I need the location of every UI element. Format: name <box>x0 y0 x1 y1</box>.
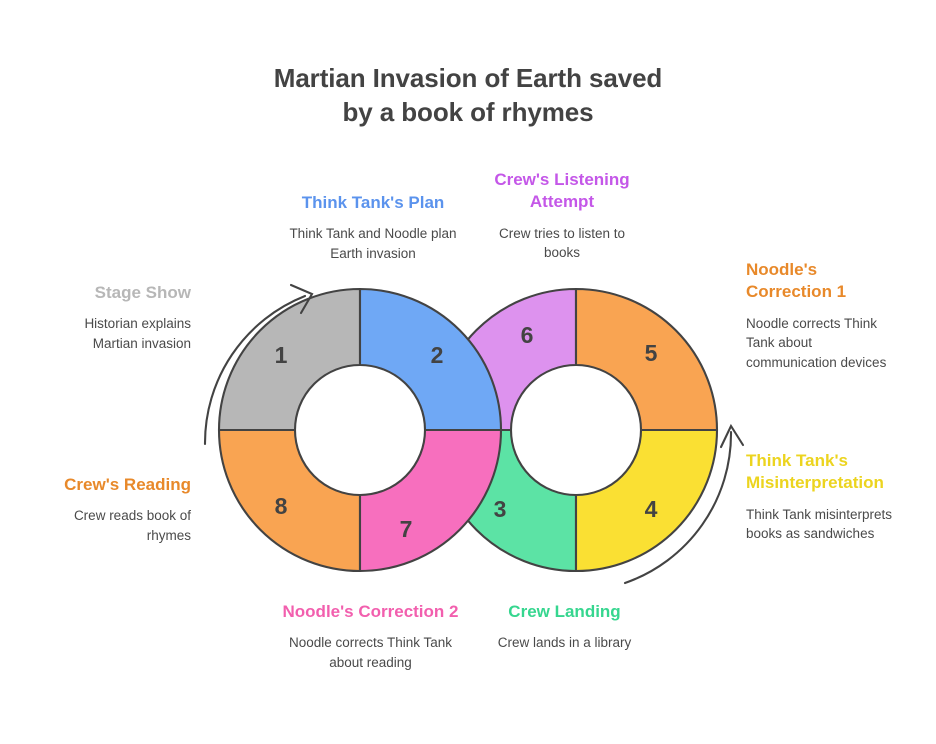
node-noodles-correction-2[interactable]: Noodle's Correction 2 Noodle corrects Th… <box>282 601 459 673</box>
node-noodles-correction-2-desc: Noodle corrects Think Tank about reading <box>282 633 459 672</box>
node-crews-listening-attempt[interactable]: Crew's Listening Attempt Crew tries to l… <box>482 169 642 263</box>
segment-2-number: 2 <box>431 342 444 368</box>
node-crews-reading-desc: Crew reads book of rhymes <box>36 506 191 545</box>
segment-1-arc[interactable] <box>219 289 360 430</box>
node-think-tanks-misinterpretation-title: Think Tank's Misinterpretation <box>746 450 908 495</box>
node-crew-landing[interactable]: Crew Landing Crew lands in a library <box>467 601 662 653</box>
node-think-tanks-misinterpretation[interactable]: Think Tank's Misinterpretation Think Tan… <box>746 450 908 544</box>
node-noodles-correction-1[interactable]: Noodle's Correction 1 Noodle corrects Th… <box>746 259 906 373</box>
node-crew-landing-title: Crew Landing <box>467 601 662 623</box>
segment-6-number: 6 <box>521 322 534 348</box>
node-stage-show-title: Stage Show <box>36 282 191 304</box>
segment-3-number: 3 <box>494 496 507 522</box>
node-noodles-correction-1-title: Noodle's Correction 1 <box>746 259 906 304</box>
left-ring <box>219 289 501 571</box>
segment-7-number: 7 <box>400 516 413 542</box>
node-crews-listening-attempt-desc: Crew tries to listen to books <box>482 224 642 263</box>
node-stage-show-desc: Historian explains Martian invasion <box>36 314 191 353</box>
node-noodles-correction-2-title: Noodle's Correction 2 <box>282 601 459 623</box>
node-crews-listening-attempt-title: Crew's Listening Attempt <box>482 169 642 214</box>
node-crews-reading-title: Crew's Reading <box>36 474 191 496</box>
node-think-tanks-misinterpretation-desc: Think Tank misinterprets books as sandwi… <box>746 505 908 544</box>
node-stage-show[interactable]: Stage Show Historian explains Martian in… <box>36 282 191 354</box>
segment-8-arc[interactable] <box>219 430 360 571</box>
segment-8-number: 8 <box>275 493 288 519</box>
node-think-tanks-plan[interactable]: Think Tank's Plan Think Tank and Noodle … <box>274 192 472 264</box>
node-crew-landing-desc: Crew lands in a library <box>467 633 662 653</box>
segment-4-number: 4 <box>645 496 658 522</box>
node-noodles-correction-1-desc: Noodle corrects Think Tank about communi… <box>746 314 906 373</box>
segment-7-arc[interactable] <box>360 430 501 571</box>
node-crews-reading[interactable]: Crew's Reading Crew reads book of rhymes <box>36 474 191 546</box>
segment-1-number: 1 <box>275 342 288 368</box>
infographic-canvas: Martian Invasion of Earth saved by a boo… <box>0 0 936 744</box>
node-think-tanks-plan-desc: Think Tank and Noodle plan Earth invasio… <box>274 224 472 263</box>
node-think-tanks-plan-title: Think Tank's Plan <box>274 192 472 214</box>
segment-5-number: 5 <box>645 340 658 366</box>
